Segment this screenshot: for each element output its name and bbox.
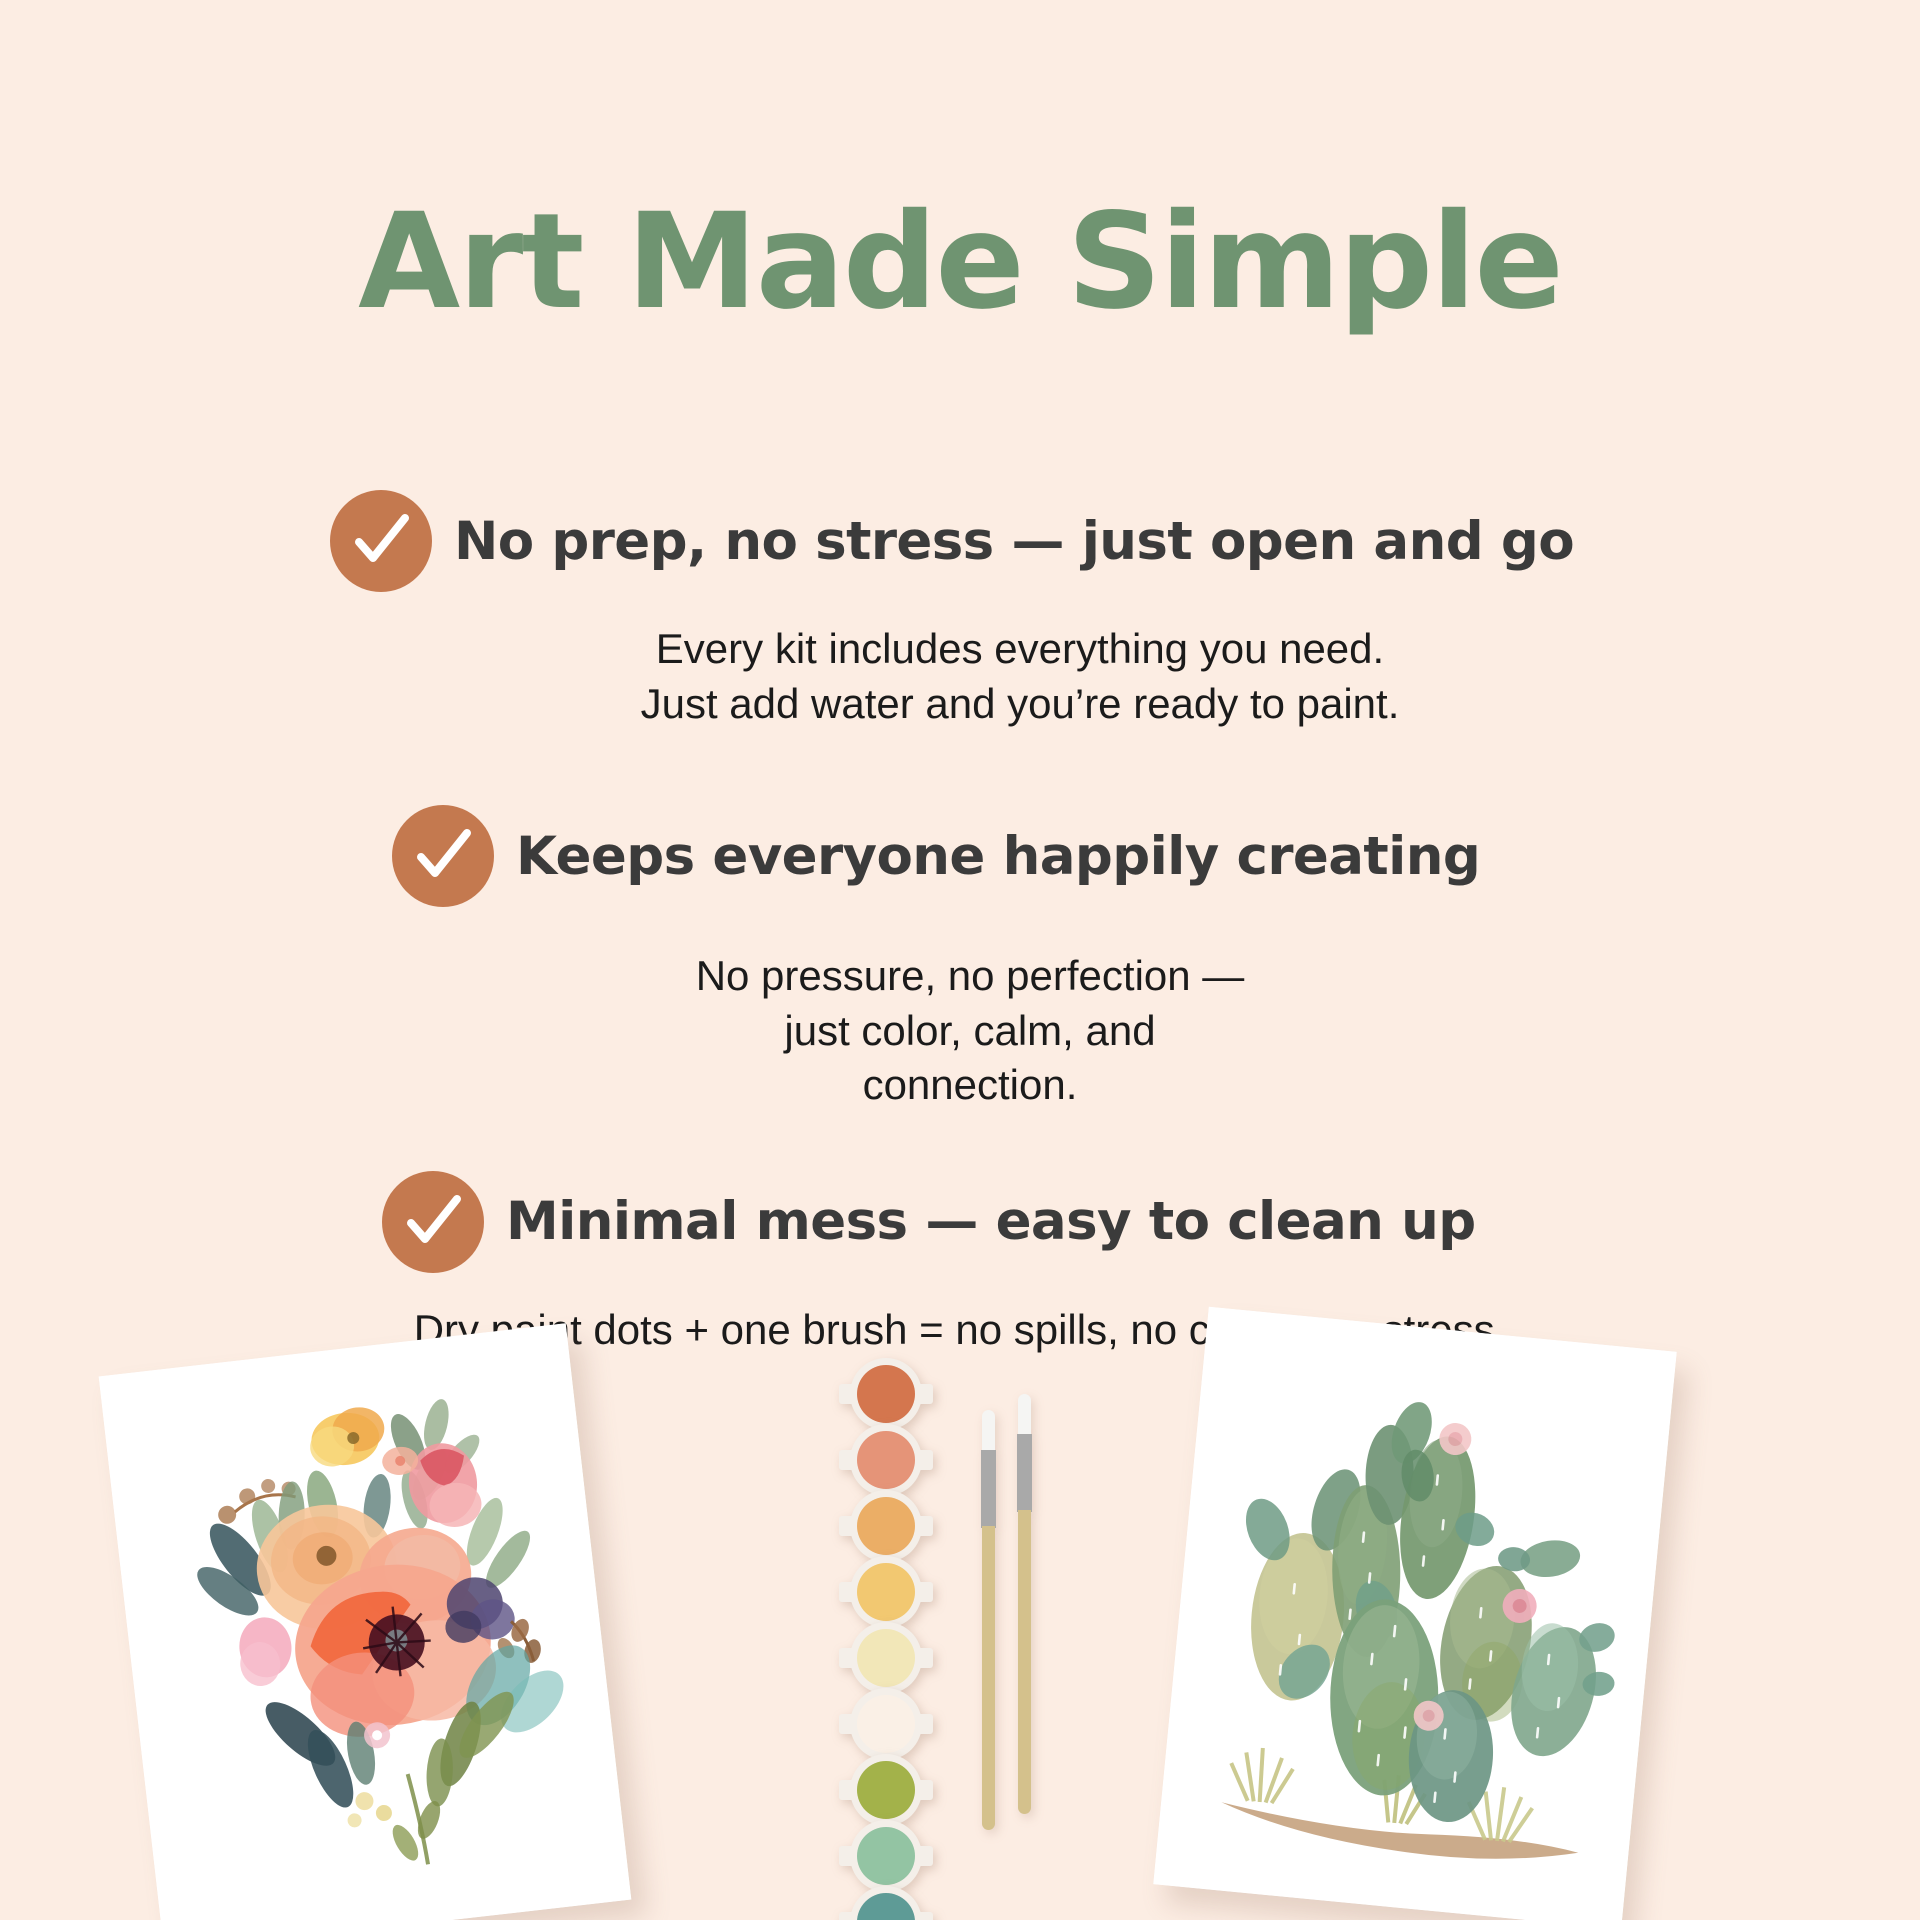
paint-dot	[850, 1490, 922, 1562]
paint-dot	[850, 1754, 922, 1826]
check-circle-icon	[392, 805, 494, 907]
benefit-body-1: Every kit includes everything you need. …	[0, 622, 1920, 731]
promo-graphic: Art Made Simple No prep, no stress — jus…	[0, 0, 1920, 1920]
watercolor-cactus-print	[1153, 1307, 1676, 1920]
paint-dot	[850, 1820, 922, 1892]
paint-dot	[850, 1688, 922, 1760]
page-title: Art Made Simple	[0, 196, 1920, 328]
benefit-list: No prep, no stress — just open and go Ev…	[0, 490, 1920, 1358]
paint-dot	[850, 1556, 922, 1628]
check-circle-icon	[382, 1171, 484, 1273]
benefit-heading-3: Minimal mess — easy to clean up	[506, 1191, 1476, 1252]
paint-dot	[850, 1358, 922, 1430]
watercolor-floral-bouquet-print	[99, 1323, 632, 1920]
benefit-item-2: Keeps everyone happily creating	[0, 805, 1920, 907]
spacer-1	[0, 731, 1920, 805]
check-circle-icon	[330, 490, 432, 592]
paint-dot	[850, 1622, 922, 1694]
paint-dot	[850, 1424, 922, 1496]
product-scene	[0, 1300, 1920, 1920]
paint-brush	[1017, 1394, 1032, 1814]
paint-dot	[850, 1886, 922, 1920]
benefit-heading-2: Keeps everyone happily creating	[516, 826, 1480, 887]
benefit-item-1: No prep, no stress — just open and go	[0, 490, 1920, 592]
benefit-item-3: Minimal mess — easy to clean up	[0, 1171, 1920, 1273]
benefit-body-2: No pressure, no perfection — just color,…	[0, 949, 1920, 1113]
spacer-2	[0, 1113, 1920, 1171]
paint-dot-strip	[850, 1358, 930, 1920]
paint-brush	[981, 1410, 996, 1830]
benefit-heading-1: No prep, no stress — just open and go	[454, 511, 1574, 572]
paint-brushes	[975, 1410, 1065, 1840]
